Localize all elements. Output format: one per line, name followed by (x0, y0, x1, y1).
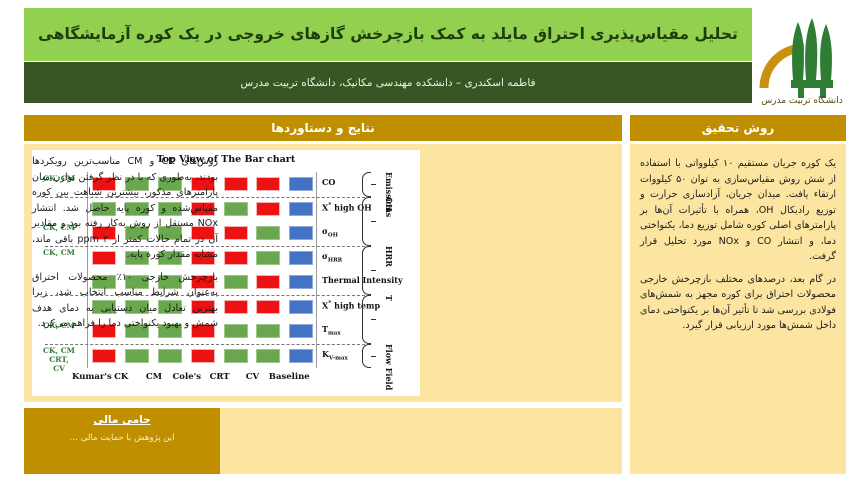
method-paragraph-1: یک کوره جریان مستقیم ۱۰ کیلوواتی با استف… (640, 156, 836, 265)
chart-cell-red (224, 300, 248, 314)
chart-cell-green (224, 202, 248, 216)
chart-cell-red (92, 349, 116, 363)
author-affiliation: فاطمه اسکندری – دانشکده مهندسی مکانیک، د… (240, 77, 535, 89)
method-paragraph-2: در گام بعد، درصدهای مختلف بازچرخش خارجی … (640, 272, 836, 334)
poster-author-bar: فاطمه اسکندری – دانشکده مهندسی مکانیک، د… (24, 62, 752, 103)
chart-cell-green (256, 349, 280, 363)
chart-group-brace (362, 344, 371, 369)
chart-cell-red (256, 202, 280, 216)
chart-group-brace (362, 197, 371, 246)
results-paragraph-2: بازچرخش خارجی ۱۰٪ محصولات احتراق به‌عنوا… (32, 270, 218, 332)
chart-x-label: CV (236, 372, 269, 382)
chart-cell-blue (289, 177, 313, 191)
chart-cell-red (224, 226, 248, 240)
chart-x-label: CRT (203, 372, 236, 382)
chart-group-label: Flow Field (384, 344, 394, 369)
chart-x-label: Kumar's (72, 372, 105, 382)
chart-row-label: X* high temp (322, 300, 380, 311)
chart-row-label: Tmax (322, 324, 341, 337)
chart-group-label: Emissions (384, 172, 394, 197)
chart-row-label: σOH (322, 226, 338, 239)
chart-x-label: CK (105, 372, 138, 382)
section-header-results: نتایج و دستاوردها (24, 115, 622, 141)
chart-cell-red (256, 300, 280, 314)
chart-x-label: Cole's (170, 372, 203, 382)
chart-row-label: σHRR (322, 251, 342, 264)
chart-row (88, 344, 318, 369)
poster-title-bar: تحلیل مقیاس‌پذیری احتراق مایلد به کمک با… (24, 8, 752, 61)
funding-box: حامی مالی این پژوهش با حمایت مالی … (24, 408, 220, 474)
logo-caption: دانشگاه تربیت مدرس (761, 94, 843, 106)
chart-cell-green (256, 324, 280, 338)
chart-cell-red (191, 349, 215, 363)
section-header-method: روش تحقیق (630, 115, 846, 141)
method-text-block: یک کوره جریان مستقیم ۱۰ کیلوواتی با استف… (640, 156, 836, 341)
results-panel: Top View of The Bar chart COX* high OHσO… (24, 144, 622, 402)
chart-cell-blue (289, 300, 313, 314)
chart-group-brace (362, 295, 371, 344)
chart-x-label: CM (138, 372, 171, 382)
chart-cell-red (256, 275, 280, 289)
chart-cell-green (224, 324, 248, 338)
chart-cell-green (224, 349, 248, 363)
chart-row-label: KV-max (322, 349, 348, 362)
method-panel: یک کوره جریان مستقیم ۱۰ کیلوواتی با استف… (630, 144, 846, 474)
chart-cell-blue (289, 202, 313, 216)
chart-group-brace (362, 172, 371, 197)
chart-group-label: OH (384, 197, 394, 246)
chart-x-label: Baseline (269, 372, 302, 382)
section-header-results-label: نتایج و دستاوردها (271, 121, 375, 135)
chart-cell-blue (289, 226, 313, 240)
section-header-method-label: روش تحقیق (702, 121, 775, 135)
chart-cell-blue (289, 324, 313, 338)
chart-cell-green (256, 226, 280, 240)
chart-cell-green (125, 349, 149, 363)
poster-header: تحلیل مقیاس‌پذیری احتراق مایلد به کمک با… (0, 0, 849, 108)
chart-group-brace (362, 246, 371, 295)
chart-divider (45, 344, 365, 345)
chart-cell-blue (289, 349, 313, 363)
chart-cell-red (224, 177, 248, 191)
results-paragraph-1: روش‌های CK و CM مناسب‌ترین رویکردها بودن… (32, 154, 218, 263)
funding-body: این پژوهش با حمایت مالی … (32, 433, 212, 443)
chart-cell-blue (289, 275, 313, 289)
page-title: تحلیل مقیاس‌پذیری احتراق مایلد به کمک با… (38, 23, 738, 46)
chart-cell-green (158, 349, 182, 363)
results-text-block: روش‌های CK و CM مناسب‌ترین رویکردها بودن… (32, 154, 218, 339)
chart-cell-blue (289, 251, 313, 265)
chart-cell-green (224, 275, 248, 289)
chart-cell-green (256, 251, 280, 265)
chart-group-label: T (384, 295, 394, 344)
chart-x-axis-labels: Kumar'sCKCMCole'sCRTCVBaseline (72, 372, 342, 382)
chart-group-label: HRR (384, 246, 394, 295)
university-logo: دانشگاه تربیت مدرس (758, 2, 846, 106)
chart-cell-red (224, 251, 248, 265)
funding-title: حامی مالی (32, 414, 212, 426)
chart-row-label: CO (322, 177, 335, 187)
chart-cell-red (256, 177, 280, 191)
chart-left-annotation: CK, CMCRT,CV (34, 346, 84, 374)
